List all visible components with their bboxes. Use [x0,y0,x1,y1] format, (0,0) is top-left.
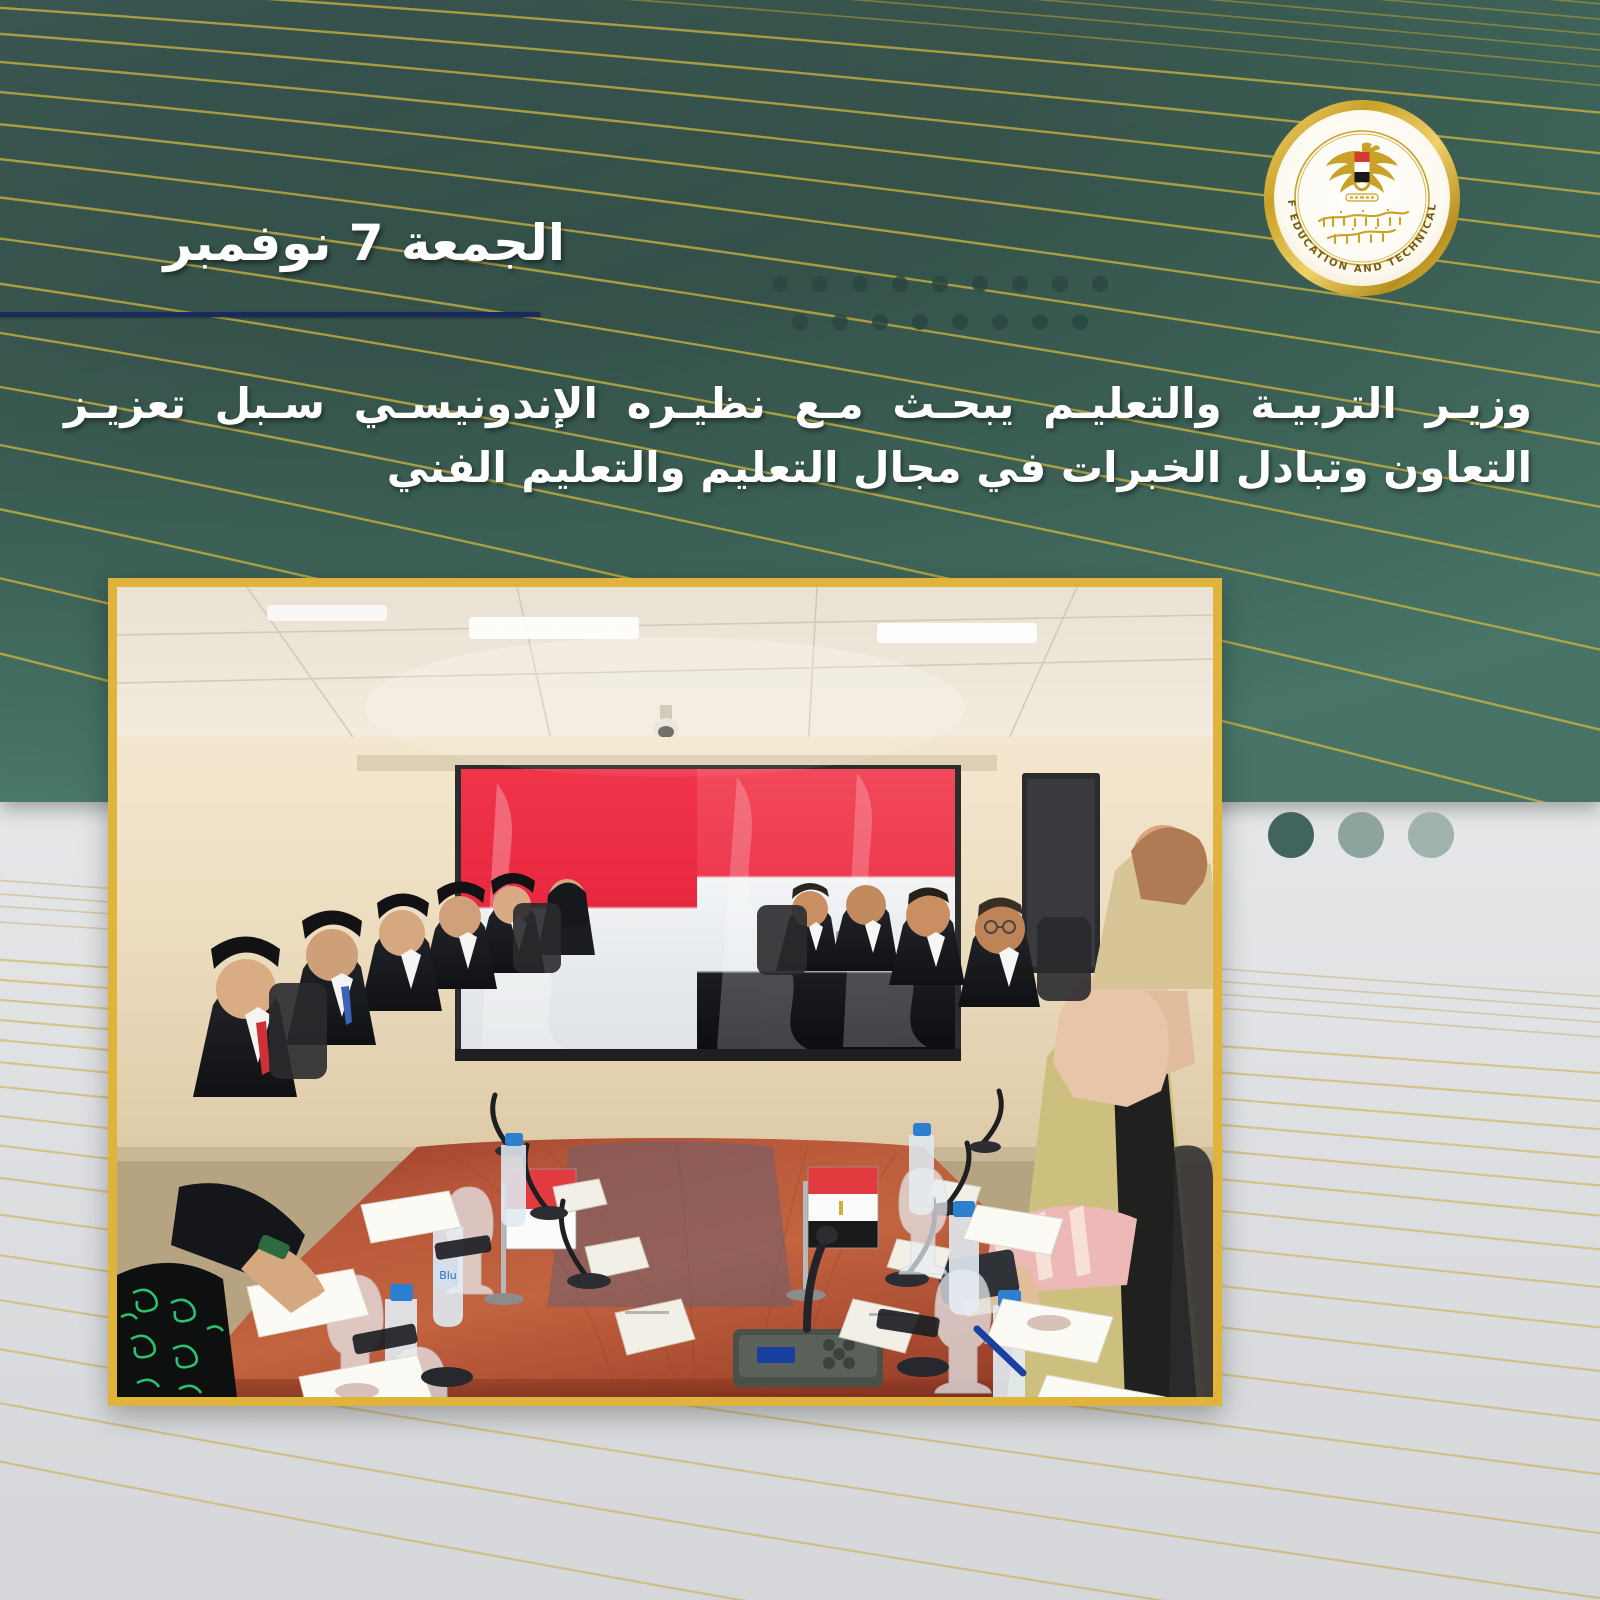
meeting-photo-illustration: Blu [117,587,1213,1397]
date-text: الجمعة 7 نوفمبر [163,214,565,272]
dot-grid-decoration [770,272,1110,334]
photo-frame: Blu [108,578,1222,1406]
meeting-photo: Blu [117,587,1213,1397]
dot-2 [1338,812,1384,858]
dot-3 [1408,812,1454,858]
news-card: MINISTRY OF EDUCATION AND TECHNICAL EDUC… [0,0,1600,1600]
headline: وزيـر التربيـة والتعليـم يبحـث مـع نظيـر… [64,372,1532,500]
date-block: الجمعة 7 نوفمبر [163,214,565,272]
headline-line-2: التعاون وتبادل الخبرات في مجال التعليم و… [64,436,1532,500]
three-dots-decoration [1268,812,1468,864]
ministry-seal-icon: MINISTRY OF EDUCATION AND TECHNICAL EDUC… [1262,98,1462,298]
headline-line-1: وزيـر التربيـة والتعليـم يبحـث مـع نظيـر… [64,372,1532,436]
dot-1 [1268,812,1314,858]
ministry-logo: MINISTRY OF EDUCATION AND TECHNICAL EDUC… [1262,98,1462,298]
date-underline-rule [0,312,540,317]
